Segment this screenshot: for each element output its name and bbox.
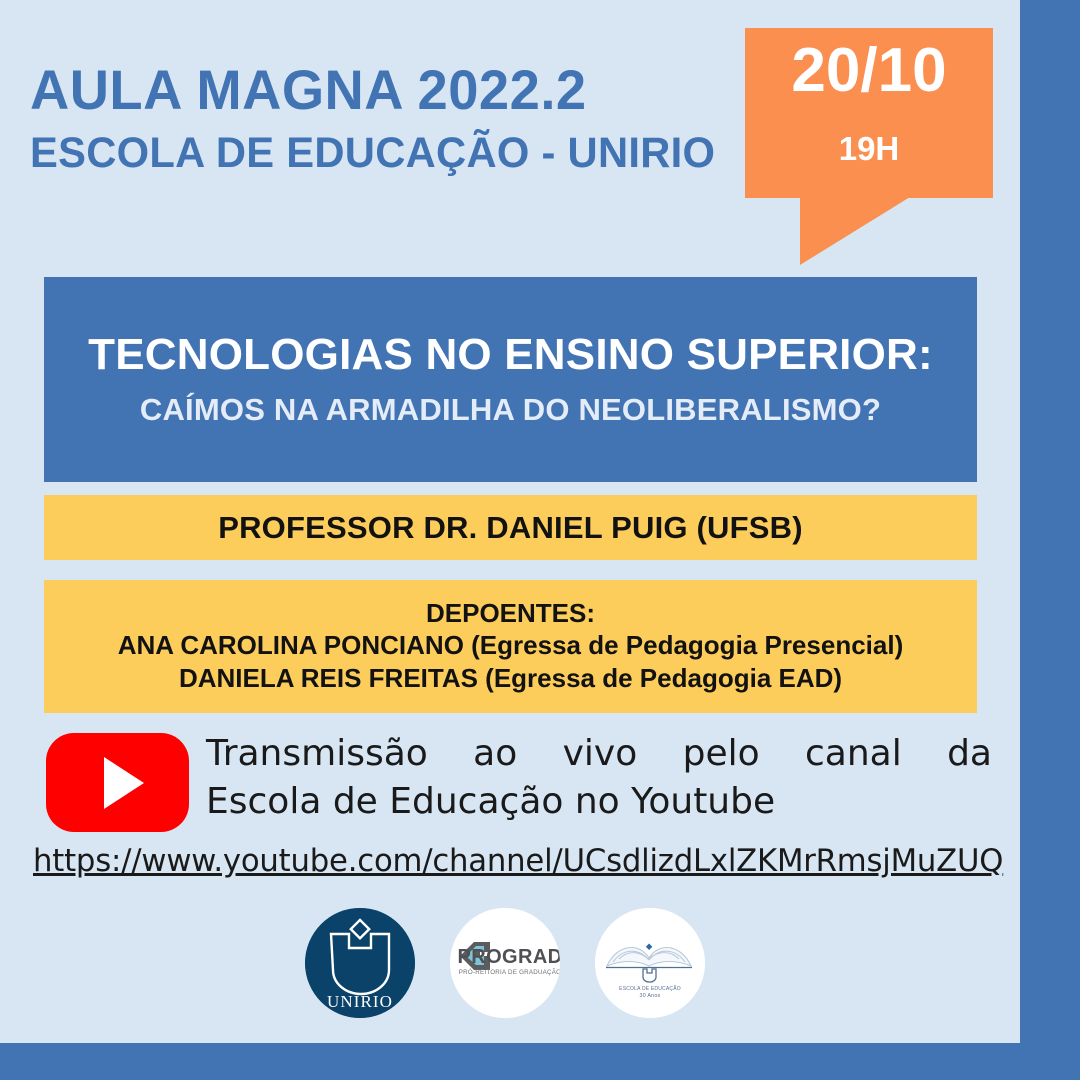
play-triangle-icon (104, 757, 144, 809)
logo-strip: UNIRIO PROGRAD PRÓ-REITORIA DE GRADUAÇÃO (305, 908, 725, 1018)
broadcast-block: Transmissão ao vivo pelo canal da Escola… (46, 730, 1006, 835)
escola-de-educacao-logo: ESCOLA DE EDUCAÇÃO 30 Anos (595, 908, 705, 1018)
speaker-name: PROFESSOR DR. DANIEL PUIG (UFSB) (218, 510, 803, 546)
svg-text:PROGRAD: PROGRAD (457, 946, 560, 968)
guests-heading: DEPOENTES: (426, 599, 595, 629)
svg-text:UNIRIO: UNIRIO (327, 992, 393, 1011)
guest-row: ANA CAROLINA PONCIANO (Egressa de Pedago… (118, 629, 903, 663)
guest-row: DANIELA REIS FREITAS (Egressa de Pedagog… (179, 662, 842, 696)
event-title: AULA MAGNA 2022.2 (30, 62, 719, 118)
svg-text:PRÓ-REITORIA DE GRADUAÇÃO: PRÓ-REITORIA DE GRADUAÇÃO (459, 969, 560, 976)
unirio-u-icon: UNIRIO (305, 908, 415, 1018)
date-badge-day: 20/10 (745, 40, 993, 102)
prograd-logo: PROGRAD PRÓ-REITORIA DE GRADUAÇÃO (450, 908, 560, 1018)
unirio-logo: UNIRIO (305, 908, 415, 1018)
svg-text:ESCOLA DE EDUCAÇÃO: ESCOLA DE EDUCAÇÃO (619, 985, 681, 992)
poster-canvas: AULA MAGNA 2022.2 ESCOLA DE EDUCAÇÃO - U… (0, 0, 1080, 1080)
open-book-icon: ESCOLA DE EDUCAÇÃO 30 Anos (595, 908, 705, 1018)
speech-bubble-tail-icon (745, 197, 993, 265)
right-blue-border (1020, 0, 1080, 1080)
speaker-box: PROFESSOR DR. DANIEL PUIG (UFSB) (44, 495, 977, 560)
date-badge-hour: 19H (745, 132, 993, 165)
broadcast-caption: Transmissão ao vivo pelo canal da Escola… (206, 730, 1006, 825)
broadcast-caption-line-1: Transmissão ao vivo pelo canal da (206, 730, 992, 778)
svg-text:30 Anos: 30 Anos (640, 993, 661, 999)
youtube-channel-link[interactable]: https://www.youtube.com/channel/UCsdlizd… (33, 843, 993, 879)
prograd-mark-icon: PROGRAD PRÓ-REITORIA DE GRADUAÇÃO (450, 908, 560, 1018)
youtube-play-icon[interactable] (46, 733, 189, 832)
event-subtitle-institution: ESCOLA DE EDUCAÇÃO - UNIRIO (30, 132, 719, 175)
guests-box: DEPOENTES: ANA CAROLINA PONCIANO (Egress… (44, 580, 977, 713)
bottom-blue-border (0, 1043, 1080, 1080)
lecture-title: TECNOLOGIAS NO ENSINO SUPERIOR: (88, 332, 933, 378)
broadcast-caption-line-2: Escola de Educação no Youtube (206, 778, 1006, 826)
poster-header: AULA MAGNA 2022.2 ESCOLA DE EDUCAÇÃO - U… (30, 62, 740, 175)
lecture-subtitle: CAÍMOS NA ARMADILHA DO NEOLIBERALISMO? (140, 394, 881, 427)
lecture-title-box: TECNOLOGIAS NO ENSINO SUPERIOR: CAÍMOS N… (44, 277, 977, 482)
